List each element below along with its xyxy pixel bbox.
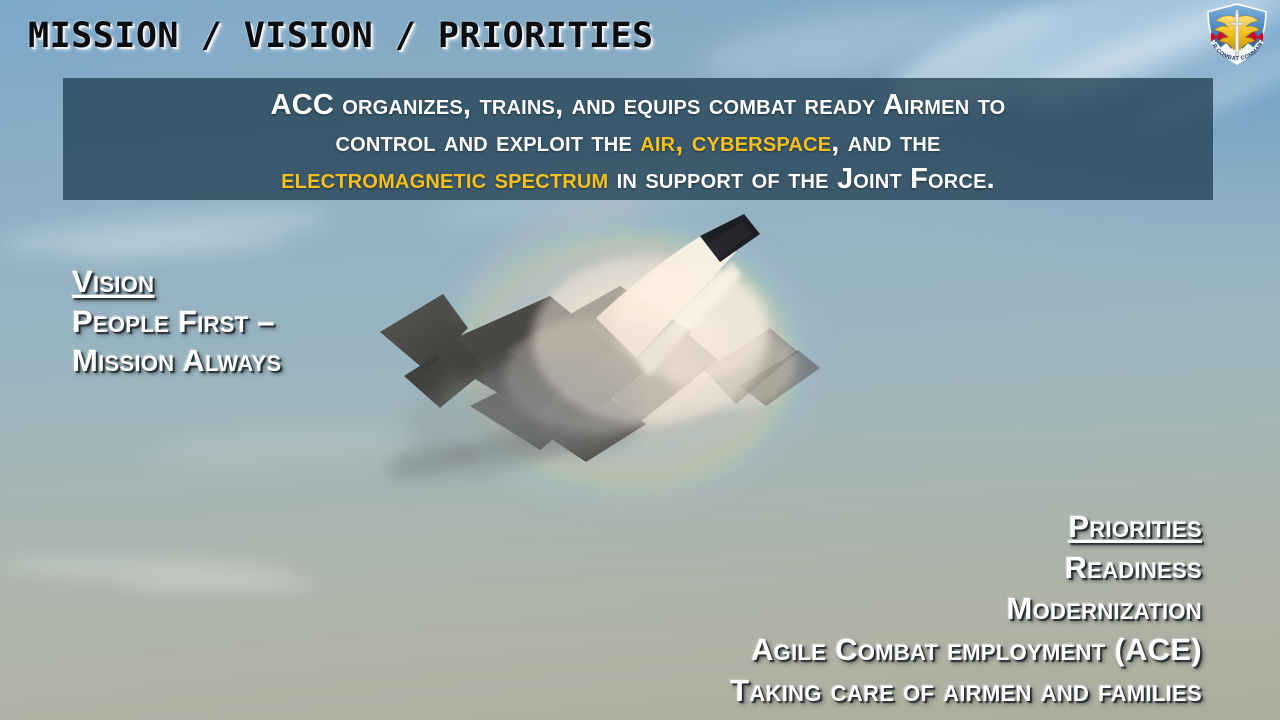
mission-seg-in-support: in support of the — [608, 163, 837, 195]
priorities-heading-text: Priorities — [1068, 509, 1202, 544]
mission-seg-air: air — [640, 126, 675, 158]
mission-seg-airmen: Airmen — [883, 89, 970, 121]
mission-seg-and-the: , and the — [831, 126, 940, 158]
mission-seg-acc: ACC — [271, 89, 343, 121]
air-combat-command-logo: AIR COMBAT COMMAND — [1202, 2, 1272, 68]
vision-line-1: People First – — [72, 302, 281, 342]
slide-title: MISSION / VISION / PRIORITIES — [28, 16, 654, 56]
vision-heading-text: Vision — [72, 264, 154, 299]
mission-line-3: electromagnetic spectrum in support of t… — [77, 161, 1199, 198]
mission-seg-organizes: organizes, trains, and equips combat rea… — [342, 89, 883, 121]
priorities-block: Priorities Readiness Modernization Agile… — [730, 507, 1202, 712]
mission-seg-to: to — [969, 89, 1005, 121]
mission-line-2: control and exploit the air, cyberspace,… — [77, 124, 1199, 161]
vision-heading: Vision — [72, 262, 281, 302]
mission-statement-panel: ACC organizes, trains, and equips combat… — [63, 78, 1213, 200]
priority-item: Modernization — [730, 589, 1202, 630]
priorities-heading: Priorities — [730, 507, 1202, 548]
mission-seg-control: control and exploit the — [335, 126, 640, 158]
mission-line-1: ACC organizes, trains, and equips combat… — [77, 87, 1199, 124]
vision-block: Vision People First – Mission Always — [72, 262, 281, 381]
priority-item: Agile Combat employment (ACE) — [730, 630, 1202, 671]
priority-item: Taking care of airmen and families — [730, 671, 1202, 712]
mission-seg-cyberspace: cyberspace — [692, 126, 831, 158]
mission-seg-joint-force: Joint Force. — [837, 163, 995, 195]
slide-canvas: AIR COMBAT COMMAND MISSION / VISION / PR… — [0, 0, 1280, 720]
vision-line-2: Mission Always — [72, 341, 281, 381]
mission-seg-ems: electromagnetic spectrum — [281, 163, 608, 195]
priority-item: Readiness — [730, 548, 1202, 589]
mission-seg-comma-1: , — [675, 126, 692, 158]
